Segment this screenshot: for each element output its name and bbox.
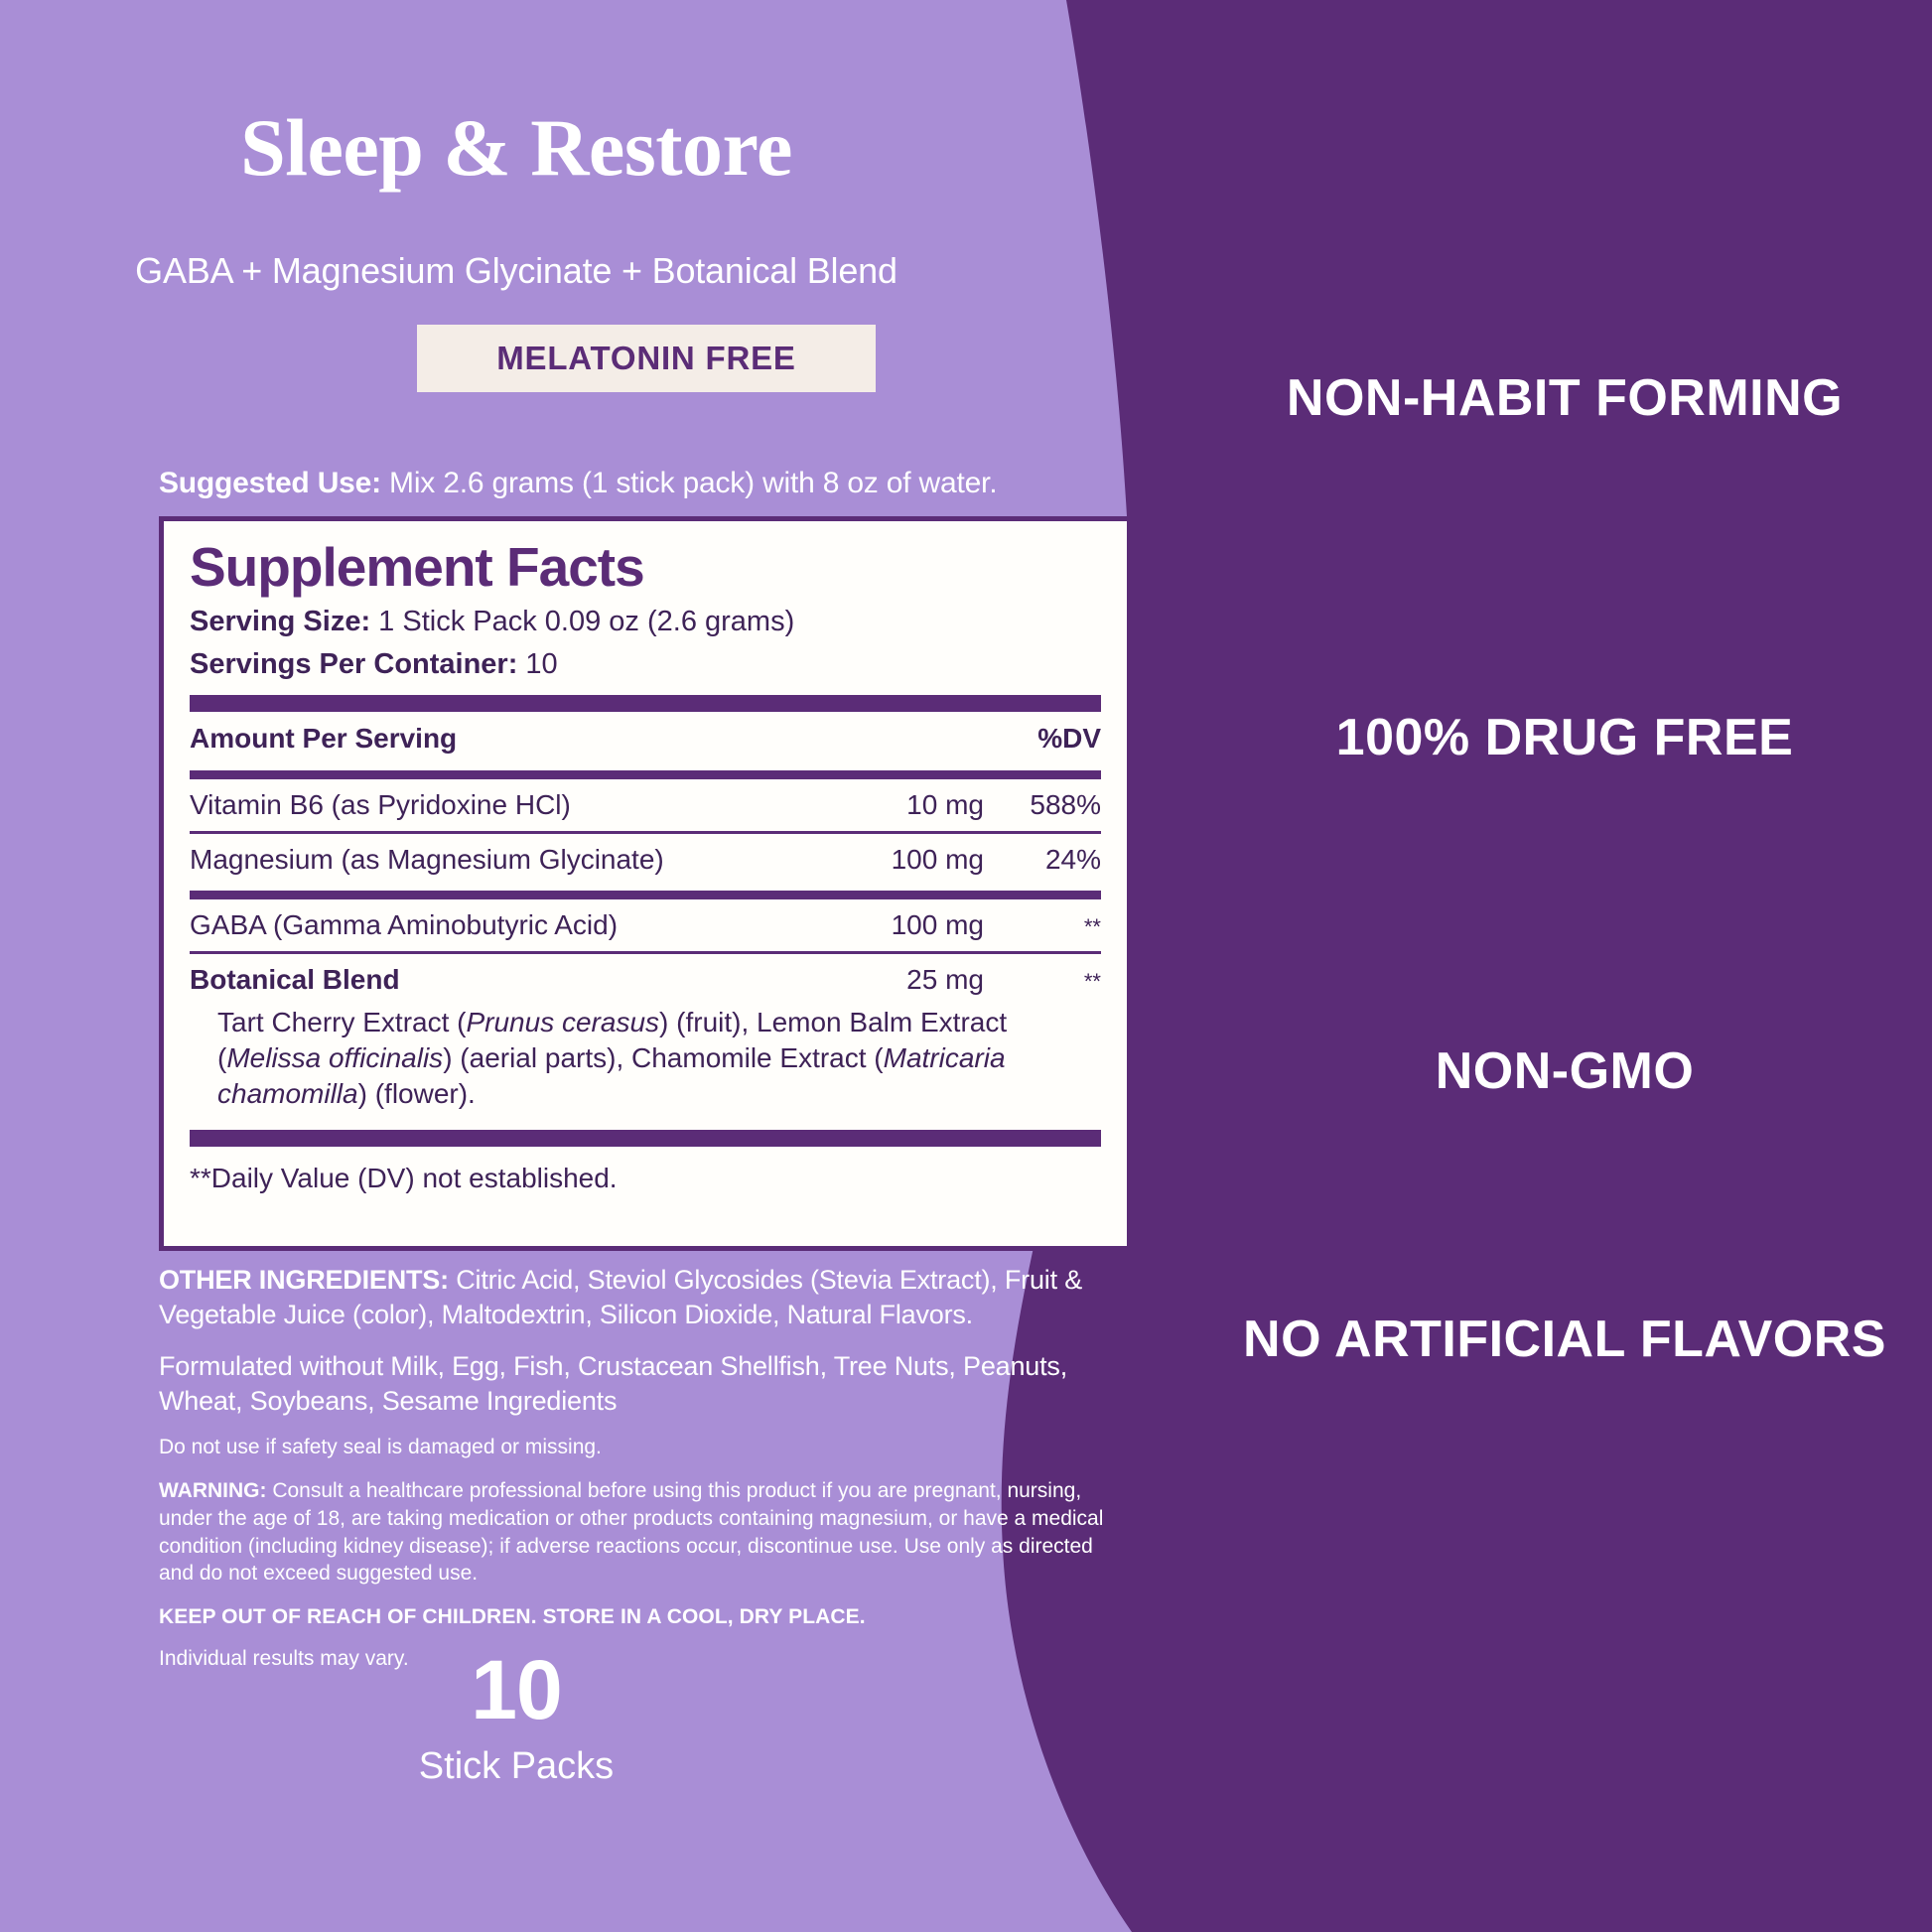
claim-non-habit-forming: NON-HABIT FORMING (1217, 369, 1912, 428)
nutrient-amount: 25 mg (815, 963, 984, 997)
servings-per-container-value: 10 (517, 648, 557, 680)
botanical-blend-detail: Tart Cherry Extract (Prunus cerasus) (fr… (190, 1005, 1101, 1117)
formulated-without: Formulated without Milk, Egg, Fish, Crus… (159, 1349, 1132, 1418)
nutrient-daily-value: ** (984, 963, 1101, 995)
nutrient-daily-value: 588% (984, 788, 1101, 822)
divider-med-1 (190, 770, 1101, 779)
blend-text: ) (flower). (358, 1078, 476, 1109)
pack-count-number: 10 (0, 1648, 1033, 1731)
other-ingredients: OTHER INGREDIENTS: Citric Acid, Steviol … (159, 1263, 1132, 1331)
table-row: Botanical Blend25 mg** (190, 954, 1101, 1006)
left-content-column: Sleep & Restore GABA + Magnesium Glycina… (0, 0, 1033, 1932)
keep-out-of-reach: KEEP OUT OF REACH OF CHILDREN. STORE IN … (159, 1605, 1132, 1629)
serving-size-label: Serving Size: (190, 606, 370, 637)
safety-seal-note: Do not use if safety seal is damaged or … (159, 1436, 1132, 1459)
warning-text: Consult a healthcare professional before… (159, 1479, 1103, 1585)
suggested-use: Suggested Use: Mix 2.6 grams (1 stick pa… (159, 467, 1033, 500)
servings-per-container-line: Servings Per Container: 10 (190, 647, 1101, 682)
nutrient-name: Botanical Blend (190, 963, 815, 997)
other-ingredients-label: OTHER INGREDIENTS: (159, 1265, 449, 1295)
supplement-facts-title: Supplement Facts (190, 539, 1101, 597)
suggested-use-label: Suggested Use: (159, 467, 381, 499)
claim-drug-free: 100% DRUG FREE (1217, 709, 1912, 767)
nutrient-amount: 100 mg (815, 908, 984, 942)
nutrient-amount: 10 mg (815, 788, 984, 822)
dv-header: %DV (984, 722, 1101, 756)
suggested-use-text: Mix 2.6 grams (1 stick pack) with 8 oz o… (381, 467, 997, 499)
divider-thick-top (190, 695, 1101, 712)
table-header-row: Amount Per Serving %DV (190, 712, 1101, 765)
blend-text: Tart Cherry Extract ( (217, 1007, 466, 1037)
nutrient-amount: 100 mg (815, 843, 984, 877)
nutrient-name: Magnesium (as Magnesium Glycinate) (190, 843, 815, 877)
supplement-facts-panel: Supplement Facts Serving Size: 1 Stick P… (159, 516, 1132, 1251)
divider-thick-bottom (190, 1130, 1101, 1147)
divider (190, 891, 1101, 899)
nutrient-name: Vitamin B6 (as Pyridoxine HCl) (190, 788, 815, 822)
blend-text: ) (aerial parts), Chamomile Extract ( (443, 1042, 883, 1073)
latin-binomial: Melissa officinalis (226, 1042, 443, 1073)
claims-column: NON-HABIT FORMING 100% DRUG FREE NON-GMO… (1197, 0, 1932, 1932)
serving-size-value: 1 Stick Pack 0.09 oz (2.6 grams) (370, 606, 794, 637)
warning-block: WARNING: Consult a healthcare profession… (159, 1477, 1132, 1587)
table-row: Magnesium (as Magnesium Glycinate)100 mg… (190, 834, 1101, 886)
warning-label: WARNING: (159, 1479, 267, 1502)
page-title: Sleep & Restore (0, 107, 1033, 189)
serving-size-line: Serving Size: 1 Stick Pack 0.09 oz (2.6 … (190, 605, 1101, 639)
amount-per-serving-header: Amount Per Serving (190, 722, 815, 756)
below-panel-text: OTHER INGREDIENTS: Citric Acid, Steviol … (159, 1263, 1132, 1671)
nutrient-rows: Vitamin B6 (as Pyridoxine HCl)10 mg588%M… (190, 779, 1101, 1118)
servings-per-container-label: Servings Per Container: (190, 648, 517, 680)
claim-no-artificial-flavors: NO ARTIFICIAL FLAVORS (1217, 1311, 1912, 1369)
table-row: GABA (Gamma Aminobutyric Acid)100 mg** (190, 899, 1101, 951)
nutrient-daily-value: ** (984, 908, 1101, 940)
dv-footnote: **Daily Value (DV) not established. (190, 1147, 1101, 1194)
nutrient-name: GABA (Gamma Aminobutyric Acid) (190, 908, 815, 942)
product-subtitle: GABA + Magnesium Glycinate + Botanical B… (0, 250, 1033, 292)
latin-binomial: Prunus cerasus (466, 1007, 659, 1037)
pack-count-block: 10 Stick Packs (0, 1648, 1033, 1788)
pack-count-unit: Stick Packs (0, 1745, 1033, 1788)
melatonin-free-badge-label: MELATONIN FREE (496, 340, 795, 377)
claim-non-gmo: NON-GMO (1217, 1042, 1912, 1101)
nutrient-daily-value: 24% (984, 843, 1101, 877)
product-label-canvas: Sleep & Restore GABA + Magnesium Glycina… (0, 0, 1932, 1932)
table-row: Vitamin B6 (as Pyridoxine HCl)10 mg588% (190, 779, 1101, 831)
melatonin-free-badge: MELATONIN FREE (417, 325, 876, 392)
